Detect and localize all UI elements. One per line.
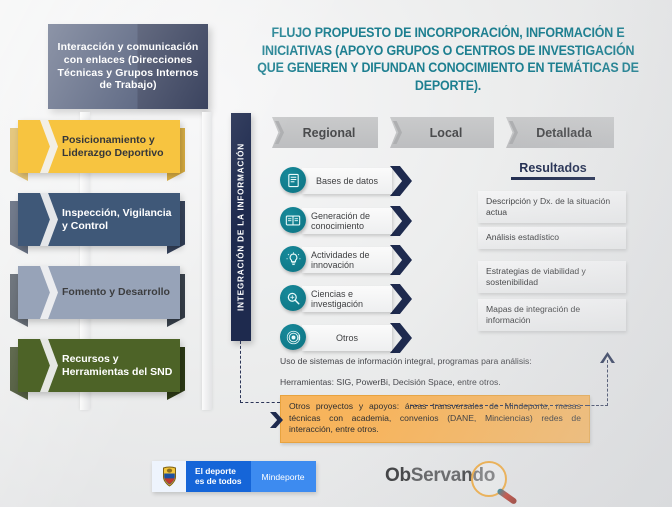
sidebar-ribbon-label: Recursos y Herramientas del SND xyxy=(62,353,180,379)
callout-box: Otros proyectos y apoyos: áreas transver… xyxy=(280,395,590,443)
flow-item-label-box: Actividades de innovación xyxy=(302,247,392,273)
sidebar-ribbon-3[interactable]: Fomento y Desarrollo xyxy=(10,266,185,319)
lightbulb-icon xyxy=(280,246,306,272)
column-header-label: Detallada xyxy=(528,126,592,140)
results-card-4[interactable]: Mapas de integración de información xyxy=(478,299,626,331)
gov-logo-ministry-text: Mindeporte xyxy=(262,472,305,482)
results-title-text: Resultados xyxy=(519,161,586,175)
results-card-1[interactable]: Descripción y Dx. de la situación actua xyxy=(478,191,626,223)
ribbon-notch-icon xyxy=(40,266,58,319)
gov-logo-slogan-text: El deportees de todos xyxy=(195,467,242,486)
magnifier-icon xyxy=(280,285,306,311)
flow-item-label-box: Ciencias e investigación xyxy=(302,286,392,312)
sidebar-ribbon-label: Inspección, Vigilancia y Control xyxy=(62,207,180,233)
ribbon-notch-icon xyxy=(40,120,58,173)
document-icon xyxy=(280,167,306,193)
results-card-2[interactable]: Análisis estadístico xyxy=(478,227,626,249)
page-title: FLUJO PROPUESTO DE INCORPORACIÓN, INFORM… xyxy=(253,24,644,94)
observando-logo: ObServando xyxy=(385,459,530,499)
header-box: Interacción y comunicación con enlaces (… xyxy=(48,24,208,109)
results-title: Resultados xyxy=(478,161,628,180)
flow-item-label-box: Otros xyxy=(302,325,392,351)
column-header-label: Local xyxy=(422,126,463,140)
feedback-arrow xyxy=(588,352,634,414)
column-header-local[interactable]: Local xyxy=(390,117,494,148)
integration-connector-horizontal xyxy=(240,402,280,403)
gov-logo: El deportees de todos Mindeporte xyxy=(152,461,316,492)
sidebar-ribbon-label: Posicionamiento y Liderazgo Deportivo xyxy=(62,134,180,160)
flow-item-arrow-icon xyxy=(390,323,412,353)
ribbon-notch-icon xyxy=(40,193,58,246)
gov-logo-slogan: El deportees de todos xyxy=(186,461,251,492)
ribbon-notch-icon xyxy=(40,339,58,392)
flow-item-label: Actividades de innovación xyxy=(311,250,392,271)
integration-vertical-bar: INTEGRACIÓN DE LA INFORMACIÓN xyxy=(231,113,251,341)
header-box-text: Interacción y comunicación con enlaces (… xyxy=(56,41,200,91)
flow-item-arrow-icon xyxy=(390,245,412,275)
coat-of-arms-svg xyxy=(161,466,178,487)
results-card-text: Descripción y Dx. de la situación actua xyxy=(486,196,618,218)
magnifier-handle-icon xyxy=(496,488,517,506)
flow-item-label: Otros xyxy=(336,333,358,344)
colombia-shield-icon xyxy=(152,461,186,492)
note-2: Herramientas: SIG, PowerBi, Decisión Spa… xyxy=(280,377,501,387)
column-header-label: Regional xyxy=(295,126,356,140)
sidebar-ribbon-4[interactable]: Recursos y Herramientas del SND xyxy=(10,339,185,392)
flow-item-label: Ciencias e investigación xyxy=(311,289,392,310)
network-icon xyxy=(280,324,306,350)
feedback-arrow-corner xyxy=(587,405,608,406)
ribbon-body: Fomento y Desarrollo xyxy=(18,266,180,319)
callout-arrow-icon xyxy=(270,412,283,428)
open-book-icon xyxy=(280,207,306,233)
flow-item-label: Generación de conocimiento xyxy=(311,211,392,232)
callout-text: Otros proyectos y apoyos: áreas transver… xyxy=(289,401,581,436)
results-card-text: Análisis estadístico xyxy=(486,232,618,243)
flow-item-arrow-icon xyxy=(390,166,412,196)
ribbon-body: Posicionamiento y Liderazgo Deportivo xyxy=(18,120,180,173)
column-header-detallada[interactable]: Detallada xyxy=(506,117,614,148)
integration-connector-vertical xyxy=(240,341,241,403)
column-header-regional[interactable]: Regional xyxy=(272,117,378,148)
flow-item-label: Bases de datos xyxy=(316,176,378,187)
note-1: Uso de sistemas de información integral,… xyxy=(280,356,532,366)
sidebar-ribbon-label: Fomento y Desarrollo xyxy=(62,286,170,299)
flow-item-label-box: Bases de datos xyxy=(302,168,392,194)
results-card-3[interactable]: Estrategias de viabilidad y sostenibilid… xyxy=(478,261,626,293)
results-title-underline xyxy=(511,177,595,180)
infographic-canvas: Interacción y comunicación con enlaces (… xyxy=(0,0,672,507)
results-card-text: Estrategias de viabilidad y sostenibilid… xyxy=(486,266,618,288)
spine-rail-right xyxy=(202,112,212,410)
flow-item-arrow-icon xyxy=(390,206,412,236)
sidebar-ribbon-1[interactable]: Posicionamiento y Liderazgo Deportivo xyxy=(10,120,185,173)
ribbon-body: Recursos y Herramientas del SND xyxy=(18,339,180,392)
results-card-text: Mapas de integración de información xyxy=(486,304,618,326)
flow-item-arrow-icon xyxy=(390,284,412,314)
sidebar-ribbon-2[interactable]: Inspección, Vigilancia y Control xyxy=(10,193,185,246)
ribbon-body: Inspección, Vigilancia y Control xyxy=(18,193,180,246)
feedback-arrow-vertical xyxy=(607,360,608,406)
integration-vertical-bar-label: INTEGRACIÓN DE LA INFORMACIÓN xyxy=(237,143,246,311)
feedback-arrow-horizontal xyxy=(410,405,588,406)
flow-item-label-box: Generación de conocimiento xyxy=(302,208,392,234)
gov-logo-ministry: Mindeporte xyxy=(251,461,316,492)
